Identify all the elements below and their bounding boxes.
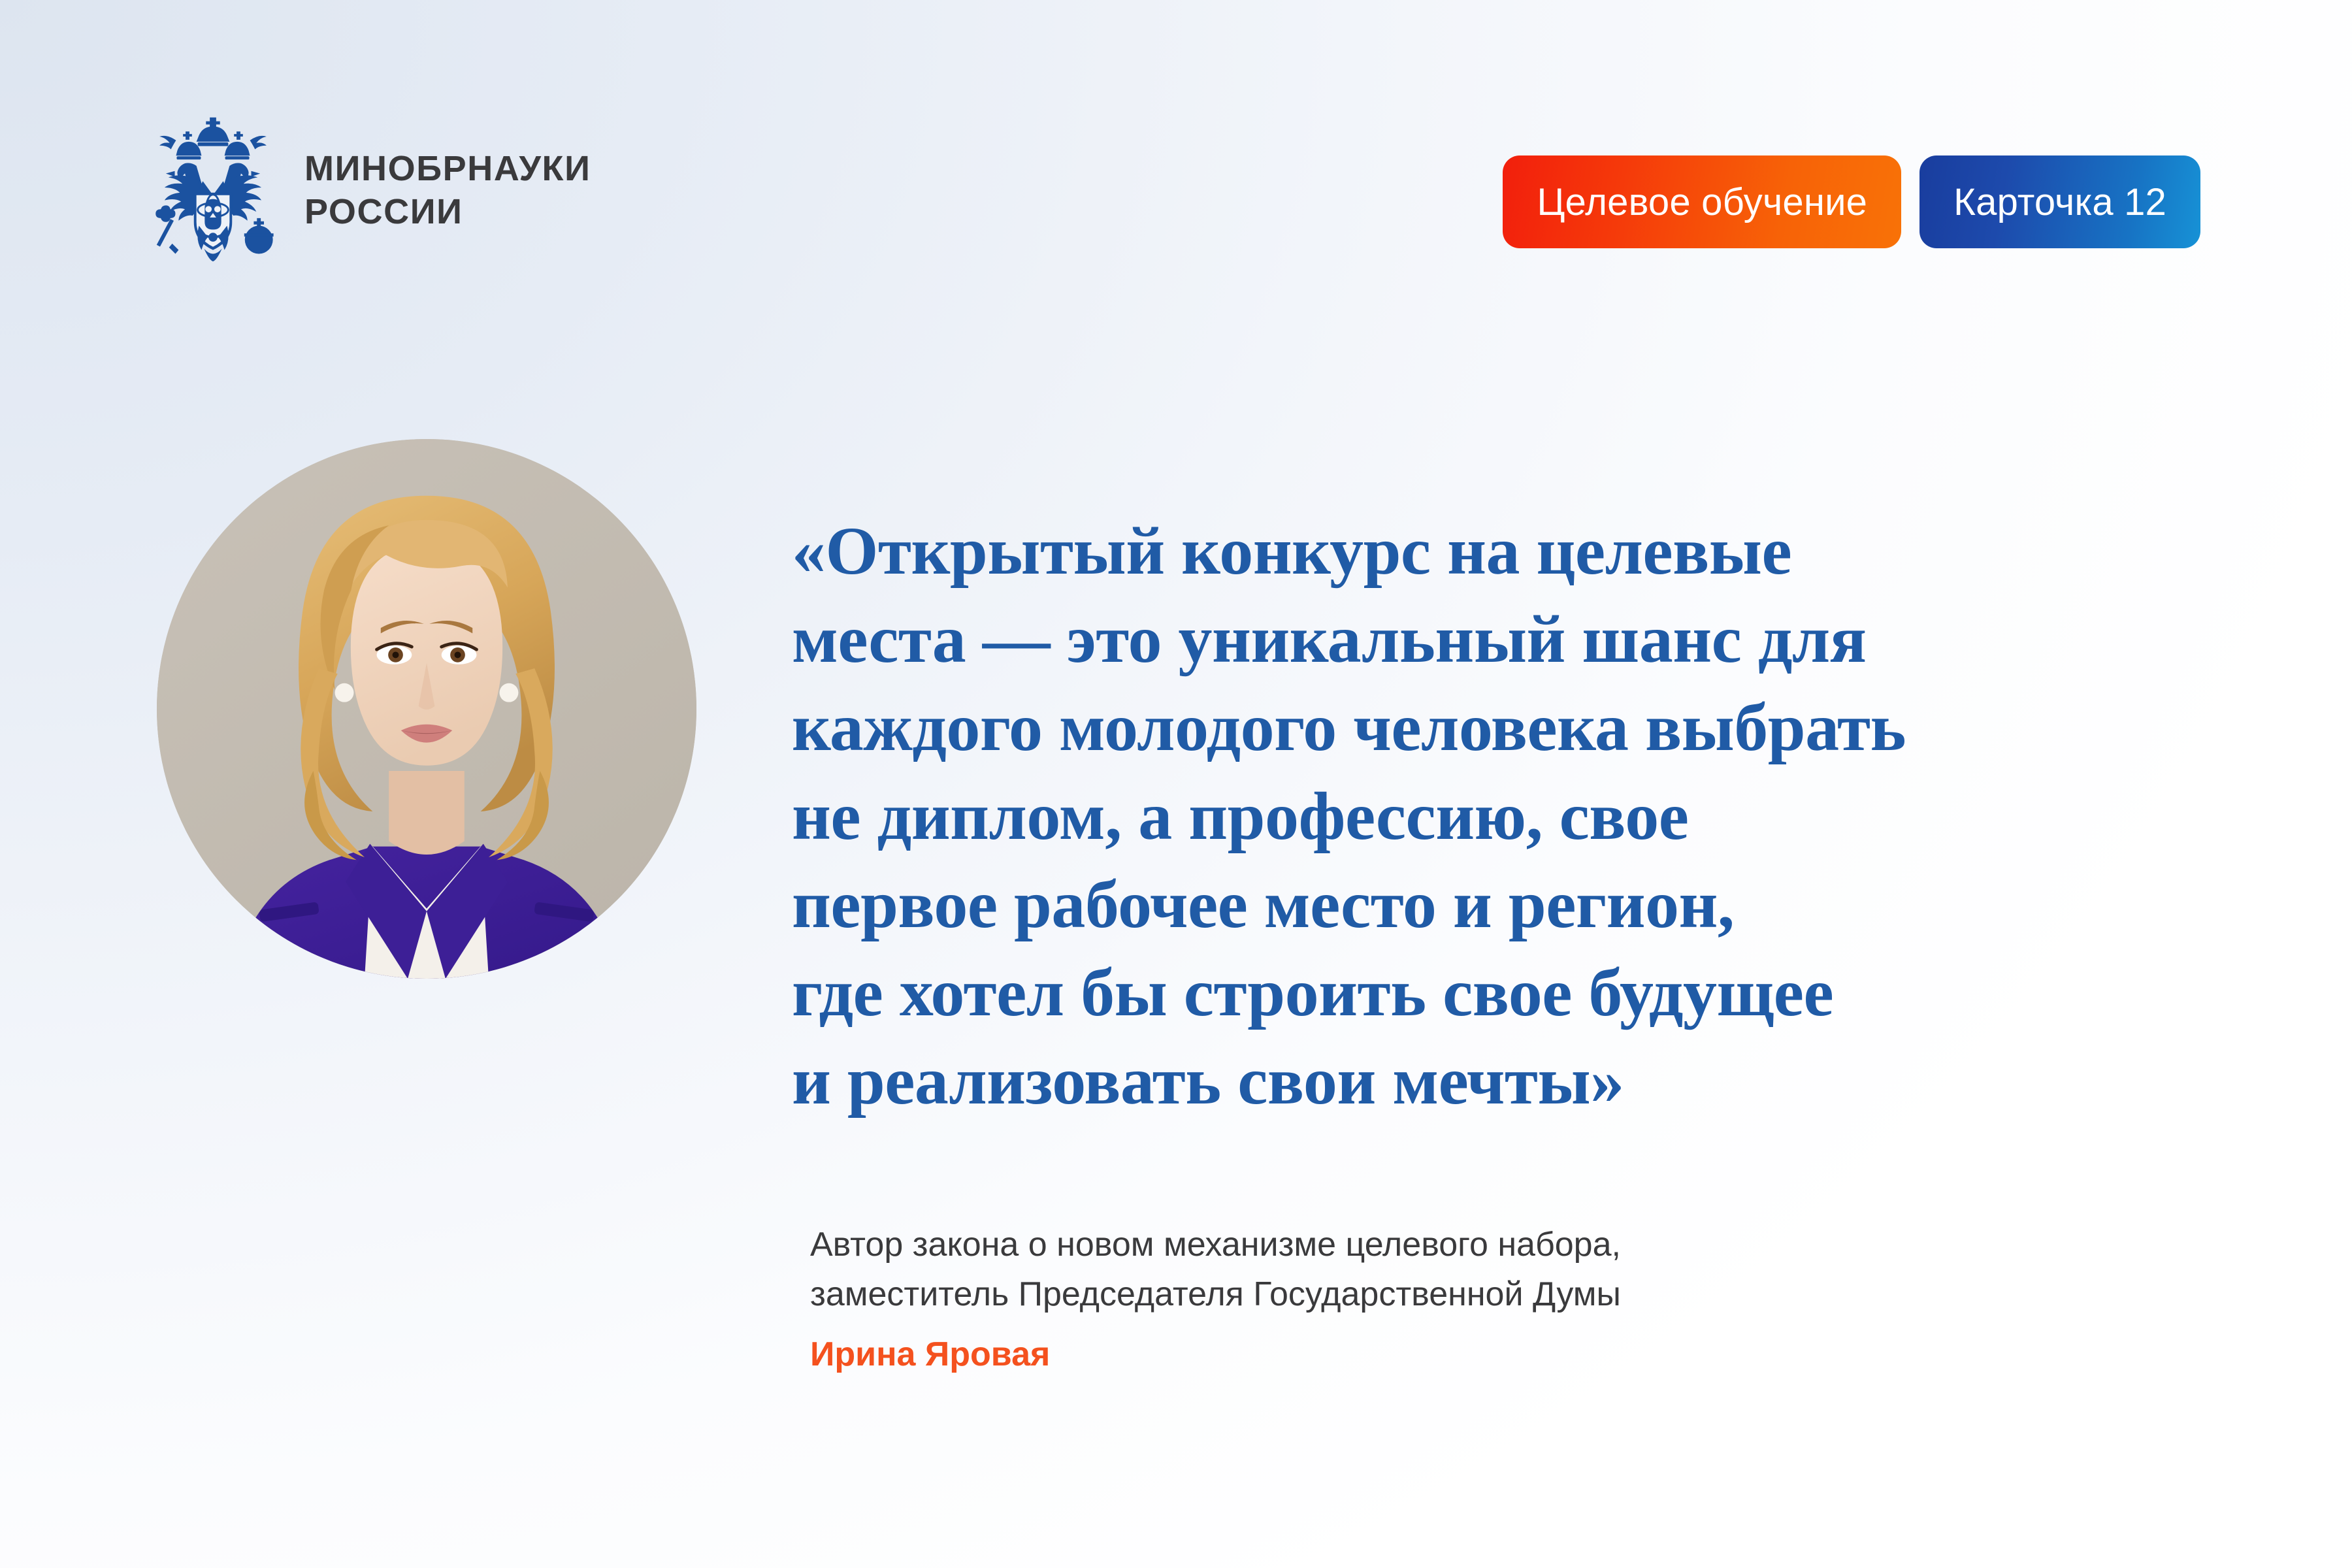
avatar [157,439,696,979]
ministry-logo: МИНОБРНАУКИ РОССИИ [149,112,591,265]
info-card: МИНОБРНАУКИ РОССИИ Целевое обучение Карт… [0,0,2352,1568]
badge-group: Целевое обучение Карточка 12 [1503,155,2200,248]
attribution-role: Автор закона о новом механизме целевого … [810,1220,2182,1320]
topic-badge[interactable]: Целевое обучение [1503,155,1901,248]
avatar-portrait [157,439,696,979]
ministry-logo-text: МИНОБРНАУКИ РОССИИ [304,148,591,234]
quote-text: «Открытый конкурс на целевые места — это… [792,507,2268,1125]
russian-double-headed-eagle-emblem [149,112,277,265]
attribution-block: Автор закона о новом механизме целевого … [810,1220,2182,1375]
card-number-badge[interactable]: Карточка 12 [1919,155,2200,248]
attribution-name: Ирина Яровая [810,1334,2182,1375]
